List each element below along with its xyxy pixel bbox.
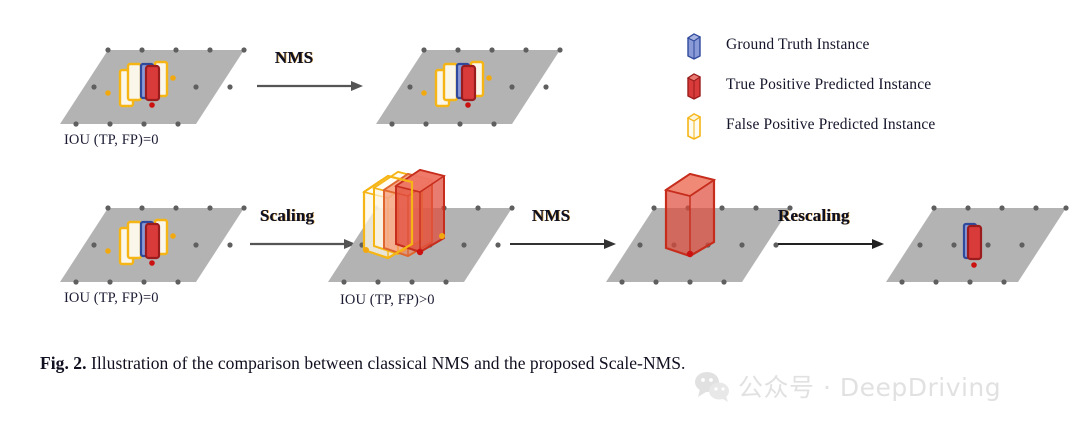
figure-caption-text: Illustration of the comparison between c…	[87, 353, 686, 373]
panel-classical-after	[368, 40, 568, 140]
scaled-box-tp-2	[396, 170, 444, 252]
scaled-box-tp-kept	[666, 174, 714, 257]
arrow-nms: NMS	[255, 48, 365, 96]
arrow-line	[255, 76, 365, 96]
box-3d-blue-icon	[686, 32, 700, 58]
ground-plane	[52, 198, 252, 290]
arrow-label: NMS	[275, 48, 313, 68]
ground-plane	[52, 40, 252, 132]
ground-plane-with-red-box	[600, 168, 800, 292]
box-3d-yellow-icon	[686, 112, 700, 138]
figure-number: Fig. 2.	[40, 353, 87, 373]
box-3d-red-icon	[686, 72, 700, 98]
legend: Ground Truth Instance True Positive Pred…	[686, 30, 1016, 150]
legend-item-true-positive: True Positive Predicted Instance	[686, 70, 1016, 100]
iou-label: IOU (TP, FP)=0	[64, 132, 159, 149]
panel-scale-input: IOU (TP, FP)=0	[52, 198, 252, 298]
scaled-instance-boxes	[363, 170, 445, 258]
panel-scale-rescaled	[880, 198, 1070, 298]
arrow-line	[776, 234, 886, 254]
panel-scale-scaled: IOU (TP, FP)>0	[322, 168, 532, 300]
legend-label: False Positive Predicted Instance	[726, 116, 935, 134]
ground-plane	[368, 40, 568, 132]
ground-plane	[880, 198, 1070, 290]
panel-classical-before: IOU (TP, FP)=0	[52, 40, 252, 140]
figure-2-illustration: IOU (TP, FP)=0 NMS	[0, 0, 1080, 432]
legend-item-ground-truth: Ground Truth Instance	[686, 30, 1016, 60]
arrow-label: Scaling	[260, 206, 314, 226]
legend-label: True Positive Predicted Instance	[726, 76, 931, 94]
iou-label: IOU (TP, FP)>0	[340, 292, 435, 309]
ground-plane-with-scaled-boxes	[322, 168, 532, 292]
arrow-rescaling: Rescaling	[776, 206, 886, 254]
iou-label: IOU (TP, FP)=0	[64, 290, 159, 307]
panel-scale-nms	[600, 168, 800, 300]
figure-caption: Fig. 2. Illustration of the comparison b…	[40, 348, 1040, 378]
arrow-label: NMS	[532, 206, 570, 226]
legend-item-false-positive: False Positive Predicted Instance	[686, 110, 1016, 140]
legend-label: Ground Truth Instance	[726, 36, 870, 54]
arrow-label: Rescaling	[778, 206, 850, 226]
